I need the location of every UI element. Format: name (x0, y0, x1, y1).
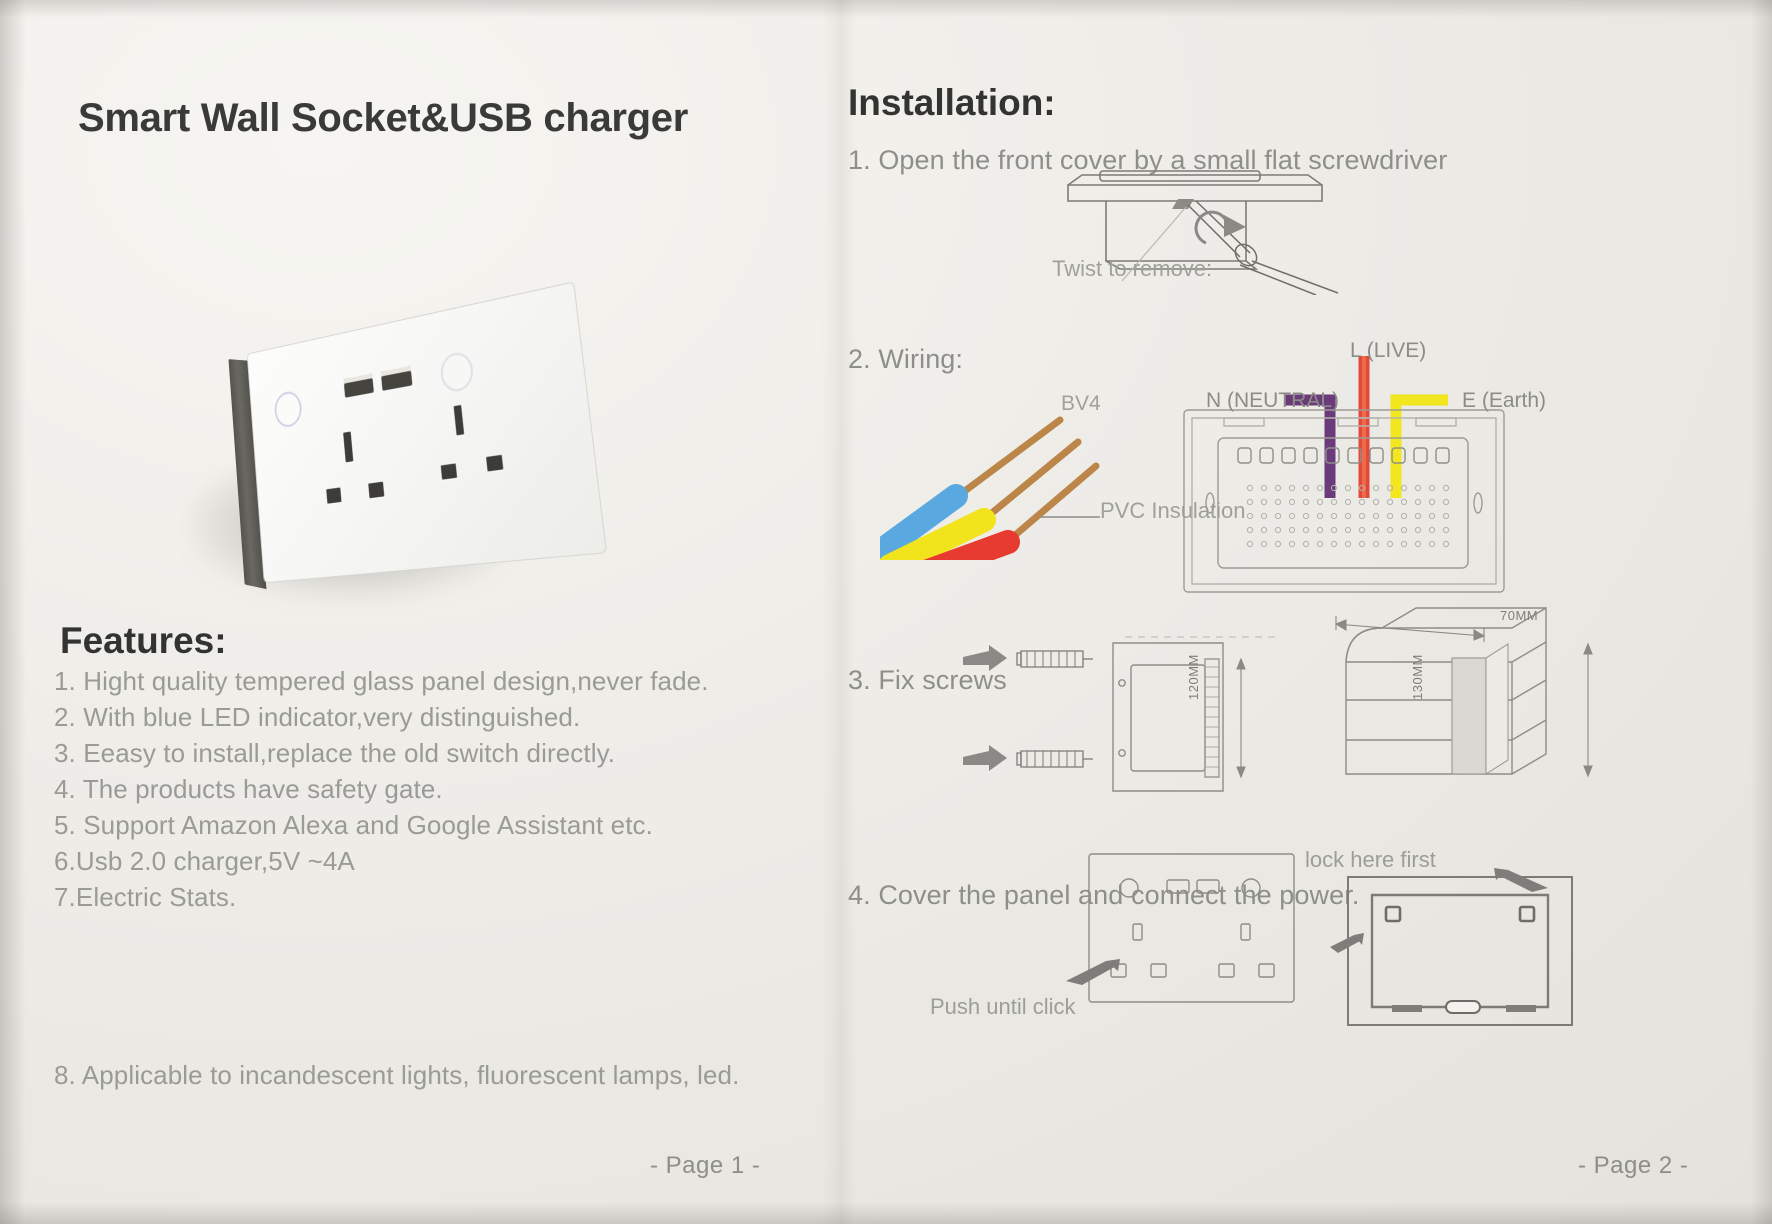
installation-heading: Installation: (848, 82, 1056, 124)
features-heading: Features: (60, 620, 227, 662)
dimension-depth: 130MM (1410, 654, 1425, 700)
diagram-wallbox-dimensions (1300, 600, 1630, 810)
socket-live-slot-left (326, 487, 341, 503)
usb-port-1 (344, 373, 374, 397)
caption-live-wire: L (LIVE) (1350, 339, 1426, 363)
socket-neutral-slot-left (368, 482, 384, 499)
feature-item: 2. With blue LED indicator,very distingu… (54, 701, 794, 733)
page-number-right: - Page 2 - (1578, 1152, 1688, 1180)
caption-twist-to-remove: Twist to remove: (1052, 256, 1212, 282)
caption-push-until-click: Push until click (930, 994, 1076, 1020)
socket-neutral-slot-right (486, 455, 503, 472)
product-photo (178, 300, 628, 630)
page-number-left: - Page 1 - (650, 1152, 760, 1180)
diagram-wiring-terminals (1180, 348, 1620, 598)
left-page: Smart Wall Socket&USB charger (0, 0, 840, 1224)
page-edge-right (1750, 0, 1772, 1224)
install-step-2: 2. Wiring: (848, 344, 963, 375)
feature-item: 7.Electric Stats. (54, 881, 794, 913)
feature-item: 1. Hight quality tempered glass panel de… (54, 665, 794, 697)
caption-bv4: BV4 (1061, 392, 1101, 416)
page-edge-left (0, 0, 26, 1224)
diagram-fix-screws (955, 625, 1285, 810)
page-title: Smart Wall Socket&USB charger (78, 96, 688, 141)
manual-spread: Smart Wall Socket&USB charger (0, 0, 1772, 1224)
caption-neutral-wire: N (NEUTRAL) (1206, 389, 1339, 413)
led-indicator-left (274, 389, 303, 429)
socket-front-face (247, 283, 606, 583)
lock-arrow-icon (1476, 862, 1566, 896)
feature-item-8: 8. Applicable to incandescent lights, fl… (54, 1060, 739, 1091)
feature-item: 5. Support Amazon Alexa and Google Assis… (54, 809, 794, 841)
socket-live-slot-right (441, 463, 457, 479)
dimension-height: 120MM (1186, 654, 1201, 700)
page-edge-bottom (0, 1202, 1772, 1224)
feature-item: 3. Eeasy to install,replace the old swit… (54, 737, 794, 769)
dimension-width: 70MM (1500, 608, 1538, 623)
features-list: 1. Hight quality tempered glass panel de… (54, 665, 794, 917)
socket-earth-slot-right (454, 405, 465, 436)
led-indicator-right (439, 350, 475, 394)
socket-device (247, 283, 606, 583)
socket-earth-slot-left (343, 432, 353, 463)
caption-earth-wire: E (Earth) (1462, 389, 1546, 413)
push-arrow-icon (1060, 955, 1140, 991)
usb-port-2 (381, 366, 413, 391)
feature-item: 4. The products have safety gate. (54, 773, 794, 805)
feature-item: 6.Usb 2.0 charger,5V ~4A (54, 845, 794, 877)
caption-lock-here-first: lock here first (1305, 847, 1436, 873)
page-edge-top (0, 0, 1772, 18)
